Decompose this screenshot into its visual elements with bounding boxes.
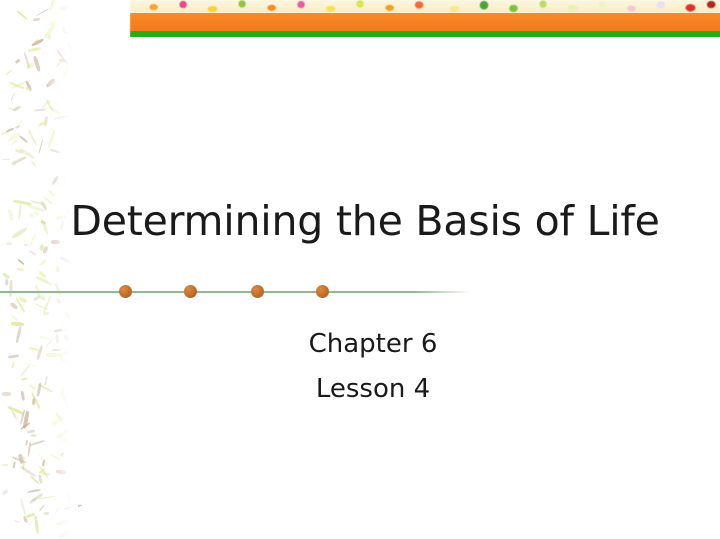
presentation-slide: Determining the Basis of Life Chapter 6 … — [0, 0, 720, 539]
confetti-stroke — [33, 18, 41, 21]
confetti-stroke — [14, 520, 20, 523]
confetti-stroke — [12, 462, 16, 469]
confetti-stroke — [2, 159, 10, 161]
confetti-stroke — [9, 302, 18, 310]
confetti-stroke — [30, 433, 35, 437]
confetti-stroke — [6, 128, 14, 132]
divider-dot — [316, 285, 329, 298]
confetti-stroke — [28, 46, 41, 51]
subtitle-block: Chapter 6 Lesson 4 — [0, 322, 720, 412]
confetti-stroke — [33, 55, 41, 72]
confetti-stroke — [26, 429, 34, 433]
confetti-stroke — [2, 464, 8, 466]
slide-header-banner — [130, 0, 720, 37]
subtitle-lesson: Lesson 4 — [26, 367, 720, 412]
confetti-stroke — [18, 135, 28, 144]
confetti-stroke — [26, 440, 28, 445]
confetti-stroke — [17, 268, 25, 272]
confetti-stroke — [24, 52, 30, 67]
subtitle-chapter: Chapter 6 — [26, 322, 720, 367]
orange-band — [130, 13, 720, 31]
confetti-stroke — [15, 125, 21, 129]
confetti-stroke — [13, 106, 21, 113]
divider-dot — [184, 285, 197, 298]
green-band — [130, 31, 720, 37]
confetti-stroke — [5, 70, 12, 76]
divider-line — [0, 291, 470, 293]
confetti-stroke — [29, 440, 45, 446]
divider-dot — [119, 285, 132, 298]
banner-left-fade — [122, 0, 132, 37]
confetti-stroke — [31, 38, 44, 46]
confetti-stroke — [33, 515, 39, 534]
confetti-stroke — [27, 489, 41, 494]
confetti-stroke — [10, 91, 15, 101]
confetti-stroke — [16, 10, 28, 20]
confetti-stroke — [31, 160, 36, 166]
divider — [0, 283, 470, 301]
confetti-stroke — [20, 499, 26, 515]
page-title: Determining the Basis of Life — [0, 196, 720, 246]
confetti-stroke — [28, 130, 37, 146]
produce-photo-strip — [130, 0, 720, 13]
confetti-stroke — [17, 258, 25, 265]
confetti-stroke — [15, 59, 20, 64]
confetti-stroke — [20, 465, 37, 477]
confetti-stroke — [29, 250, 37, 256]
confetti-stroke — [2, 490, 8, 496]
divider-dot — [251, 285, 264, 298]
confetti-stroke — [10, 314, 18, 321]
confetti-fade-overlay — [44, 0, 78, 539]
